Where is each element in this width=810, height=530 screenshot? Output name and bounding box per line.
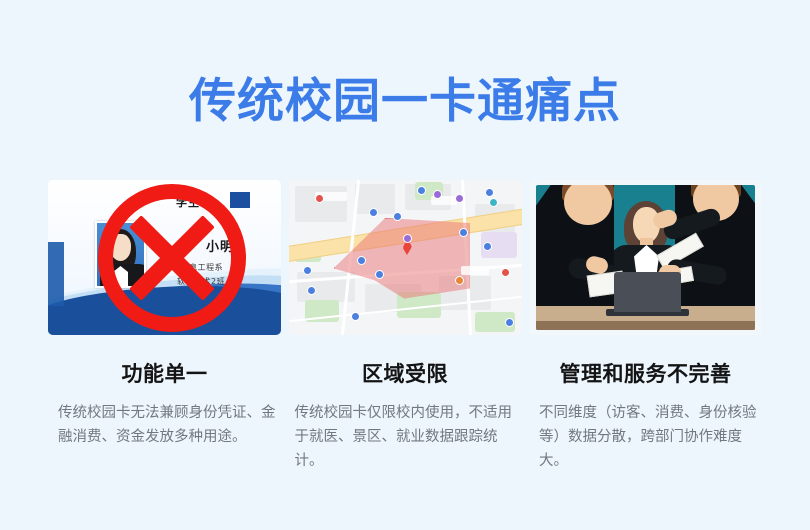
map-poi-icon — [455, 194, 464, 203]
card-heading: 功能单一 — [48, 358, 281, 388]
map-poi-icon — [303, 266, 312, 275]
pain-point-columns: 学生卡 小明 23级信息工程系 软件技术2班 功能单一 传统校园卡无法兼顾身份凭… — [48, 180, 762, 473]
map-poi-icon — [505, 318, 514, 327]
map-poi-icon — [307, 286, 316, 295]
map-poi-icon — [351, 312, 360, 321]
pain-point-card-function-single: 学生卡 小明 23级信息工程系 软件技术2班 功能单一 传统校园卡无法兼顾身份凭… — [48, 180, 281, 473]
map-graphic — [289, 180, 522, 335]
map-poi-icon — [393, 212, 402, 221]
map-poi-icon — [489, 198, 498, 207]
map-poi-icon — [433, 190, 442, 199]
map-image — [289, 180, 522, 335]
map-poi-icon — [403, 234, 412, 243]
map-poi-icon — [459, 228, 468, 237]
map-poi-icon — [485, 188, 494, 197]
map-poi-icon — [315, 194, 324, 203]
map-label-chip — [461, 266, 489, 275]
map-poi-icon — [501, 268, 510, 277]
card-body-text: 传统校园卡仅限校内使用，不适用于就医、景区、就业数据跟踪统计。 — [289, 401, 522, 473]
map-poi-icon — [357, 256, 366, 265]
map-poi-icon — [417, 186, 426, 195]
office-graphic — [529, 180, 762, 335]
desk-edge — [536, 321, 755, 330]
illustration-frame — [536, 185, 755, 330]
map-poi-icon — [483, 242, 492, 251]
map-poi-icon — [375, 270, 384, 279]
card-body-text: 传统校园卡无法兼顾身份凭证、金融消费、资金发放多种用途。 — [48, 401, 281, 449]
card-heading: 管理和服务不完善 — [529, 358, 762, 388]
card-body-text: 不同维度（访客、消费、身份核验等）数据分散，跨部门协作难度大。 — [529, 401, 762, 473]
prohibition-cross-icon — [98, 184, 246, 332]
pain-point-card-management-service: 管理和服务不完善 不同维度（访客、消费、身份核验等）数据分散，跨部门协作难度大。 — [529, 180, 762, 473]
map-poi-icon — [369, 208, 378, 217]
slide-root: 传统校园一卡通痛点 学生卡 — [0, 0, 810, 530]
student-id-card-image: 学生卡 小明 23级信息工程系 软件技术2班 — [48, 180, 281, 335]
card-side-band — [48, 242, 64, 306]
pain-point-card-area-limited: 区域受限 传统校园卡仅限校内使用，不适用于就医、景区、就业数据跟踪统计。 — [289, 180, 522, 473]
card-heading: 区域受限 — [289, 358, 522, 388]
office-illustration-image — [529, 180, 762, 335]
map-poi-icon — [455, 276, 464, 285]
laptop-screen — [614, 272, 681, 312]
page-title: 传统校园一卡通痛点 — [0, 74, 810, 130]
